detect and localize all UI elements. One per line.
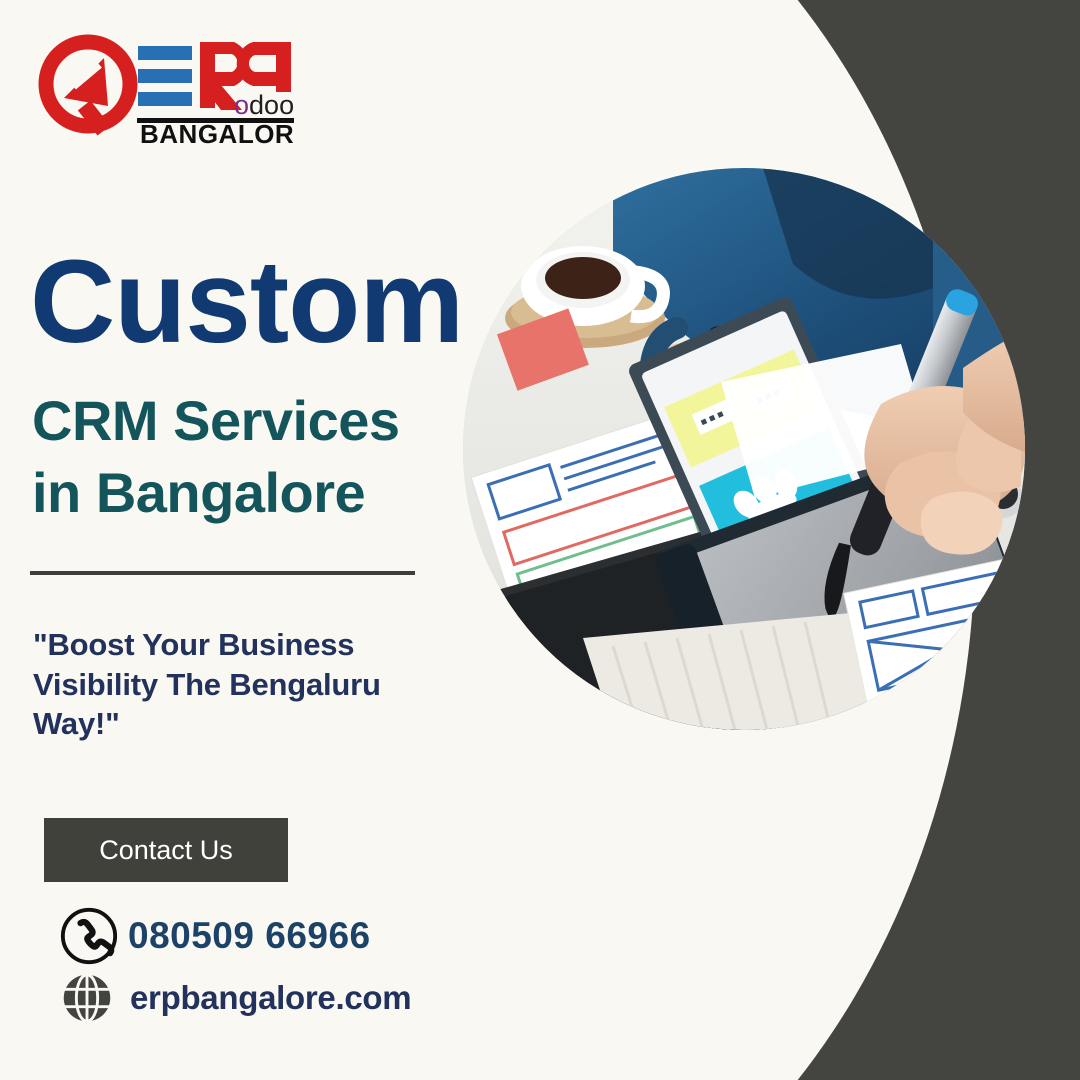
workspace-photo-illustration (463, 168, 1025, 730)
subtitle-line-1: CRM Services (32, 385, 400, 457)
globe-icon (56, 967, 118, 1029)
q-circle-mark (46, 42, 130, 136)
odoo-wordmark: odoo (234, 90, 294, 120)
website-url[interactable]: erpbangalore.com (130, 979, 411, 1017)
divider (30, 571, 415, 575)
phone-in-circle-icon (58, 905, 120, 967)
letter-p (237, 42, 291, 92)
erp-odoo-bangalore-logo-mark: odoo BANGALORE (34, 32, 294, 147)
poster-canvas: odoo BANGALORE Custom CRM Services in Ba… (0, 0, 1080, 1080)
subtitle-line-2: in Bangalore (32, 457, 400, 529)
phone-contact-row[interactable]: 080509 66966 (58, 905, 371, 967)
subtitle: CRM Services in Bangalore (32, 385, 400, 528)
e-bars (138, 46, 192, 106)
hero-photo-circle (463, 168, 1025, 730)
tagline: "Boost Your Business Visibility The Beng… (33, 625, 433, 744)
website-contact-row[interactable]: erpbangalore.com (56, 967, 411, 1029)
bangalore-wordmark: BANGALORE (140, 119, 294, 147)
page-title: Custom (30, 243, 463, 361)
brand-logo[interactable]: odoo BANGALORE (34, 32, 294, 147)
contact-us-button[interactable]: Contact Us (44, 818, 288, 882)
phone-number[interactable]: 080509 66966 (128, 915, 371, 957)
